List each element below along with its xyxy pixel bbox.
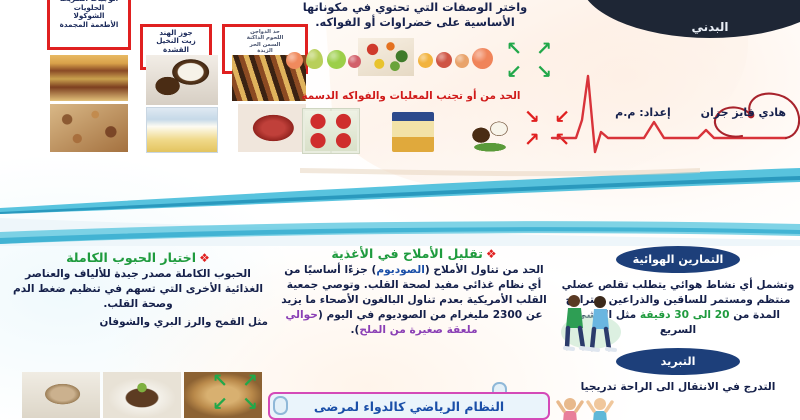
- aerobic-duration-min: 20: [715, 309, 730, 321]
- credit-name: هادي فايز جزان: [701, 106, 786, 119]
- header-banner-title: البدني: [691, 20, 728, 34]
- fruit-3: [327, 50, 346, 69]
- expand-arrows-fruit: ↖ ↗ ↙ ↘: [506, 40, 552, 82]
- wild-rice-bowl-photo: [103, 372, 181, 418]
- aerobic-mid: الى: [689, 309, 715, 321]
- food-list-box-fast-food: (النشا)الوجبات السريعةالحلوياتالشوكولاال…: [47, 0, 131, 50]
- whole-grain-panel: ❖اختيار الحبوب الكاملة الحبوب الكاملة مص…: [8, 250, 268, 328]
- aerobic-oval-header: التمارين الهوائية: [616, 246, 740, 273]
- arrow-up-right-icon: ↗: [242, 372, 258, 391]
- steak-photo: [238, 104, 306, 152]
- intro-paragraph: في الثلاجة للوجبات الخفيفة السريعة. واخت…: [300, 0, 530, 31]
- cooldown-body: التدرج في الانتقال الى الراحة تدريجيا: [556, 380, 800, 395]
- diamond-bullet-icon: ❖: [486, 247, 497, 261]
- arrow-down-right-icon: ↘: [242, 395, 258, 414]
- salt-body-part1: الحد من تناول الأملاح (: [425, 264, 544, 276]
- infographic-page: البدني (النشا)الوجبات السريعةالحلوياتالش…: [0, 0, 800, 420]
- salt-body-part3: مليغرام من الصوديوم في اليوم (: [318, 309, 493, 321]
- canned-vegetables-stack: [302, 108, 360, 154]
- cream-can-photo: [146, 107, 218, 153]
- canned-fruit-tin: [392, 112, 434, 152]
- aerobic-duration-max: 30: [674, 309, 689, 321]
- reduce-salt-heading-text: تقليل الأملاح في الأغذية: [331, 246, 483, 261]
- rice-dish-photo: [50, 104, 128, 152]
- fruit-7: [455, 54, 469, 68]
- arrow-down-left-icon: ↙: [506, 63, 522, 82]
- fruit-8: [472, 48, 493, 69]
- kids-svg: [556, 396, 628, 420]
- reduce-salt-panel: ❖تقليل الأملاح في الأغذية الحد من تناول …: [276, 246, 552, 338]
- arrow-up-right-icon: ↗: [524, 131, 540, 150]
- cooldown-oval-header: التبريد: [616, 348, 740, 375]
- cooldown-oval-title: التبريد: [661, 355, 696, 368]
- reduce-salt-body: الحد من تناول الأملاح (الصوديوم) جزءًا أ…: [276, 263, 552, 338]
- whole-grain-body: الحبوب الكاملة مصدر جيدة للألياف والعناص…: [8, 267, 268, 312]
- food-list-line: القشدة: [146, 46, 206, 54]
- vegetable-basket-photo: [358, 38, 414, 76]
- sport-as-medicine-text: النظام الرياضي كالدواء لمرضى: [314, 399, 504, 414]
- arrow-up-left-icon: ↖: [506, 40, 522, 59]
- fruit-6: [436, 52, 452, 68]
- expand-arrows-grain: ↖ ↗ ↙ ↘: [212, 372, 258, 414]
- whole-grain-examples: مثل القمح والرز البري والشوفان: [8, 316, 268, 328]
- whole-grain-heading-text: اختيار الحبوب الكاملة: [66, 250, 196, 265]
- aerobic-oval-title: التمارين الهوائية: [633, 253, 724, 266]
- fruit-1: [286, 52, 303, 69]
- fruit-strip: [286, 36, 506, 80]
- diamond-bullet-icon: ❖: [199, 251, 210, 265]
- arrow-up-right-icon: ↗: [536, 40, 552, 59]
- sport-as-medicine-box: النظام الرياضي كالدواء لمرضى: [268, 392, 550, 420]
- runners-svg: [556, 292, 626, 354]
- salt-amount: 2300: [493, 309, 523, 321]
- ecg-heart-graphic: هادي فايز جزان إعداد: م.م: [548, 60, 800, 170]
- credit-line: هادي فايز جزان إعداد: م.م: [615, 106, 786, 119]
- salt-sodium-term: الصوديوم: [376, 264, 425, 276]
- reduce-salt-heading: ❖تقليل الأملاح في الأغذية: [276, 246, 552, 261]
- food-list-line: الأطعمة المجمدة: [53, 21, 125, 29]
- divider-bottom-svg: [0, 206, 800, 246]
- coconut-halves: [462, 112, 518, 152]
- credit-label: إعداد: م.م: [615, 106, 671, 119]
- divider-band-bottom: [0, 206, 800, 246]
- limit-canned-caption: الحد من أو تجنب المعلبات والفواكه الدسمة: [286, 90, 536, 102]
- fruit-2: [306, 49, 323, 69]
- coconut-photo: [146, 55, 218, 105]
- arrow-down-left-icon: ↙: [212, 395, 228, 414]
- aerobic-unit: دقيقة: [640, 309, 674, 321]
- fruit-4: [348, 55, 361, 68]
- arrow-up-left-icon: ↖: [212, 372, 228, 391]
- fruit-5: [418, 53, 433, 68]
- kids-illustration: [556, 396, 628, 420]
- burger-photo: [50, 55, 128, 101]
- runners-illustration: [556, 292, 626, 354]
- oat-loaf-photo: [22, 372, 100, 418]
- arrow-down-right-icon: ↘: [524, 108, 540, 127]
- capsule-icon-left: [273, 396, 288, 415]
- whole-grain-heading: ❖اختيار الحبوب الكاملة: [8, 250, 268, 265]
